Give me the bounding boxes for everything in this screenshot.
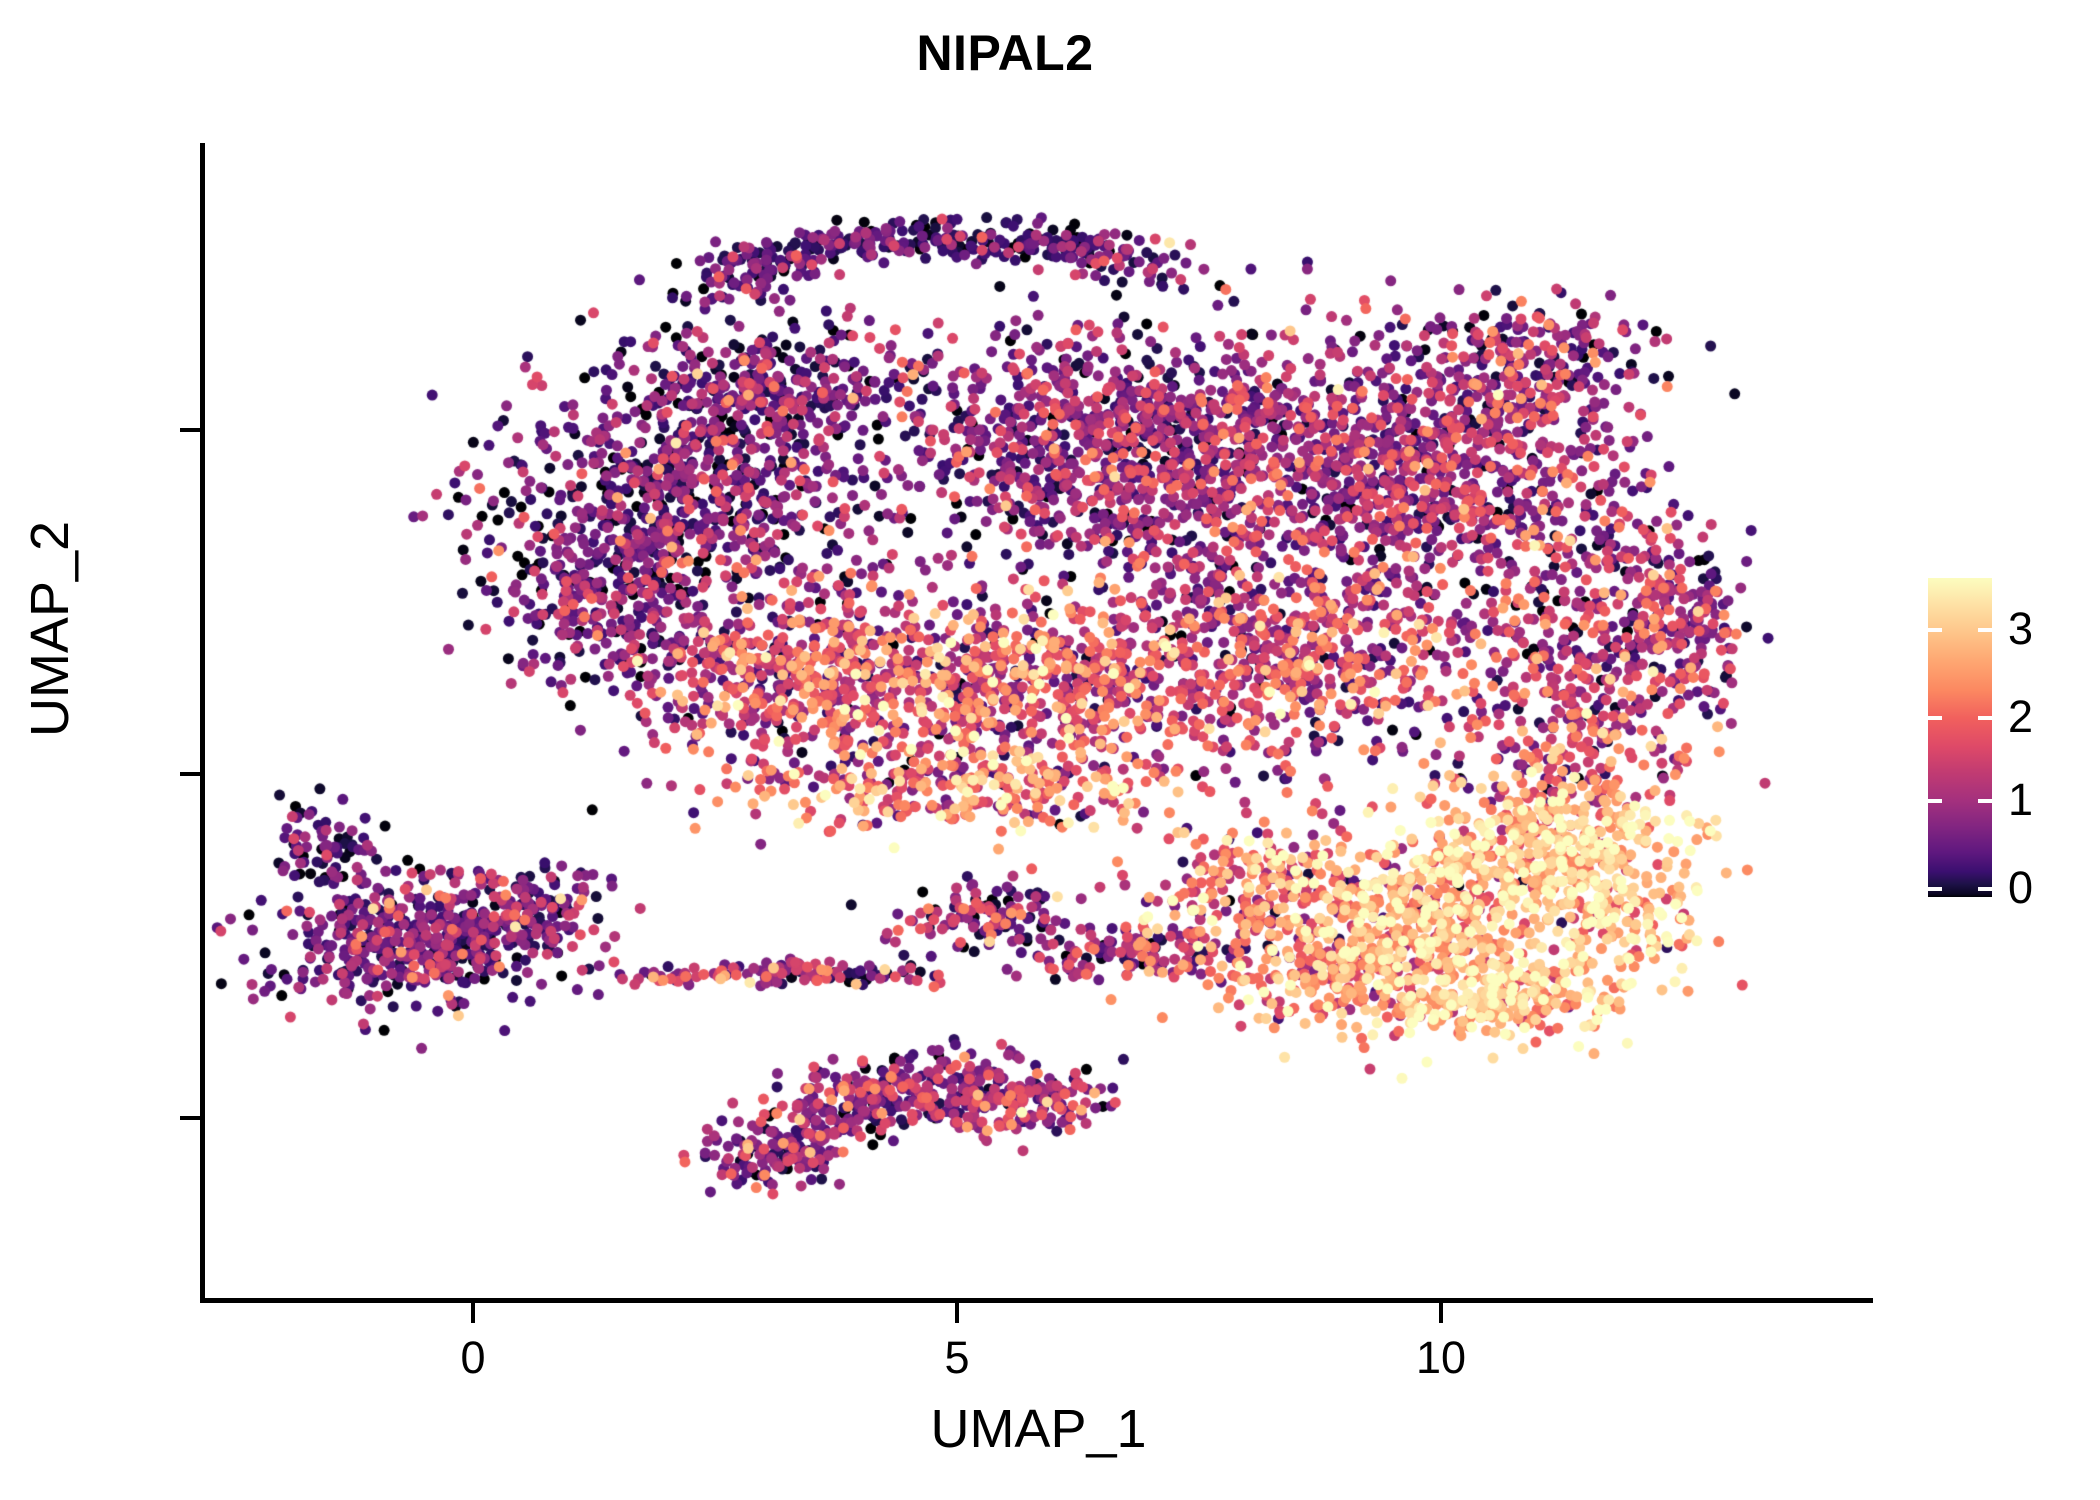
x-tick-label-10: 10: [1371, 1335, 1511, 1380]
scatter-plot-panel[interactable]: [204, 143, 1873, 1300]
chart-root: NIPAL2 10 5 0 0 5 10 UMAP_2 UMAP_1 3 2 1: [0, 0, 2100, 1500]
x-axis-title: UMAP_1: [204, 1398, 1873, 1460]
colorbar-tick-left-2: [1928, 716, 1942, 720]
y-axis-title: UMAP_2: [19, 329, 81, 929]
scatter-points-layer[interactable]: [204, 143, 1873, 1300]
x-tick-mark-10: [1439, 1303, 1443, 1323]
y-tick-mark-0: [180, 1116, 200, 1120]
colorbar-tick-right-3: [1978, 628, 1992, 632]
x-axis-line: [200, 1298, 1873, 1303]
x-tick-label-5: 5: [887, 1335, 1027, 1380]
colorbar-tick-left-0: [1928, 887, 1942, 891]
x-tick-label-0: 0: [403, 1335, 543, 1380]
colorbar-tick-right-1: [1978, 799, 1992, 803]
colorbar-tick-right-0: [1978, 887, 1992, 891]
x-tick-mark-5: [955, 1303, 959, 1323]
colorbar-label-3: 3: [2008, 606, 2078, 651]
colorbar-legend[interactable]: 3 2 1 0: [1928, 578, 2098, 908]
colorbar-gradient[interactable]: [1928, 578, 1992, 897]
y-axis-line: [200, 143, 205, 1303]
y-tick-mark-5: [180, 772, 200, 776]
colorbar-tick-left-3: [1928, 628, 1942, 632]
colorbar-tick-right-2: [1978, 716, 1992, 720]
colorbar-label-2: 2: [2008, 694, 2078, 739]
colorbar-tick-left-1: [1928, 799, 1942, 803]
page-title: NIPAL2: [0, 24, 2010, 82]
x-tick-mark-0: [471, 1303, 475, 1323]
y-tick-mark-10: [180, 428, 200, 432]
colorbar-label-0: 0: [2008, 865, 2078, 910]
colorbar-label-1: 1: [2008, 777, 2078, 822]
